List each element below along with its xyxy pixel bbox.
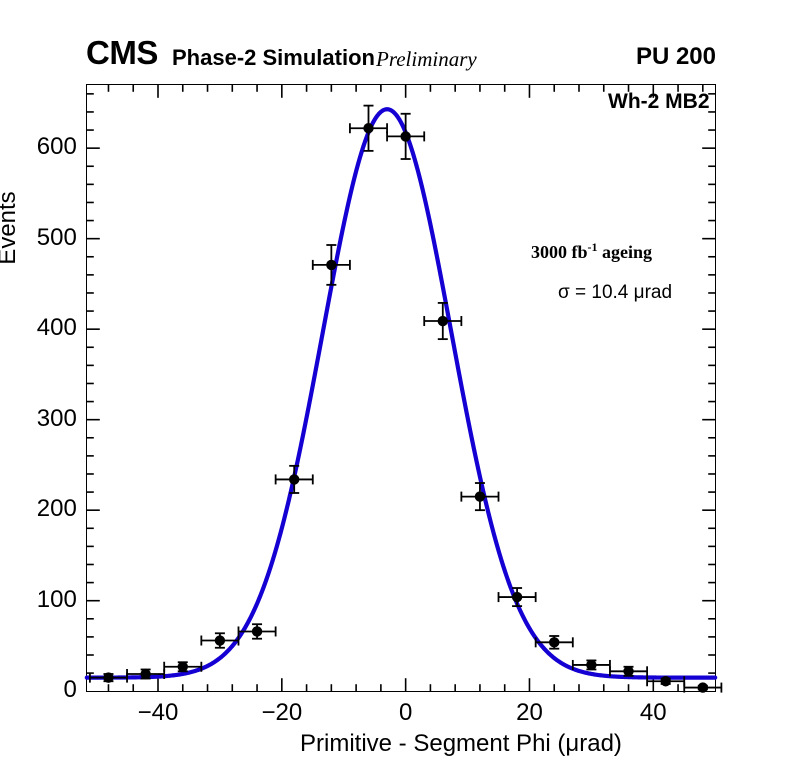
x-tick-label: 0 [361,699,451,727]
data-points [90,106,721,693]
data-point [313,245,350,285]
y-tick-label: 100 [7,586,77,614]
y-axis-ticks [87,94,715,673]
data-marker [215,635,225,645]
data-marker [400,131,410,141]
data-marker [512,592,522,602]
gaussian-fit-curve [87,109,715,677]
data-marker [103,672,113,682]
data-marker [475,491,485,501]
x-tick-label: −40 [113,699,203,727]
y-tick-label: 400 [7,314,77,342]
data-point [499,588,536,606]
y-tick-label: 0 [7,676,77,704]
data-marker [252,626,262,636]
data-marker [438,316,448,326]
data-marker [549,637,559,647]
data-marker [326,260,336,270]
data-marker [363,123,373,133]
data-point [424,303,461,339]
data-marker [178,662,188,672]
data-point [276,466,313,493]
x-tick-label: 20 [484,699,574,727]
data-marker [623,666,633,676]
data-point [90,672,127,682]
y-tick-label: 600 [7,133,77,161]
data-marker [698,682,708,692]
y-tick-label: 300 [7,405,77,433]
x-tick-label: −20 [237,699,327,727]
plot-graphics [0,0,796,772]
data-marker [660,676,670,686]
chart-canvas: CMS Phase-2 Simulation Preliminary PU 20… [0,0,796,772]
data-point [684,682,721,692]
data-marker [140,669,150,679]
x-tick-label: 40 [608,699,698,727]
data-marker [586,660,596,670]
x-axis-ticks [108,85,702,691]
data-point [387,114,424,159]
data-point [461,483,498,510]
data-marker [289,474,299,484]
y-tick-label: 200 [7,495,77,523]
y-tick-label: 500 [7,224,77,252]
